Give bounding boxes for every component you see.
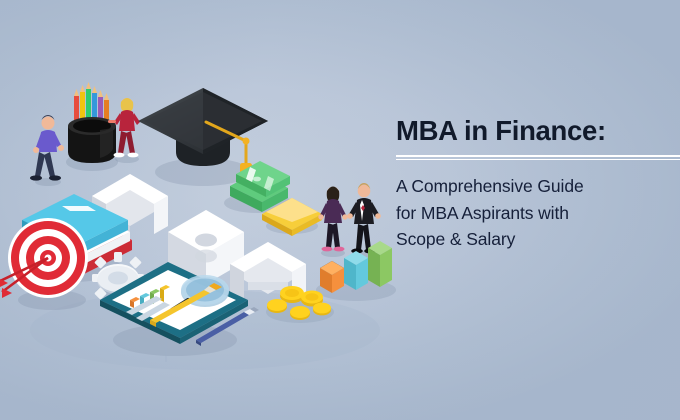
text-block: MBA in Finance: A Comprehensive Guide fo… [396,116,680,253]
bar-green [368,241,392,287]
title-divider [396,155,680,160]
person-woman-purple [318,187,347,258]
pencil-cup-icon [66,82,118,171]
divider-line-bottom [396,159,680,161]
page-title: MBA in Finance: [396,116,680,146]
target-board-icon [0,218,88,310]
illustration-svg [0,0,420,420]
page-subtitle: A Comprehensive Guide for MBA Aspirants … [396,173,680,253]
subtitle-line-2: for MBA Aspirants with [396,200,680,227]
bar-cyan [344,251,368,290]
subtitle-line-1: A Comprehensive Guide [396,173,680,200]
mba-finance-banner: MBA in Finance: A Comprehensive Guide fo… [0,0,680,420]
person-walking-man [30,115,64,186]
divider-line-top [396,155,680,157]
isometric-illustration [0,0,420,420]
subtitle-line-3: Scope & Salary [396,226,680,253]
